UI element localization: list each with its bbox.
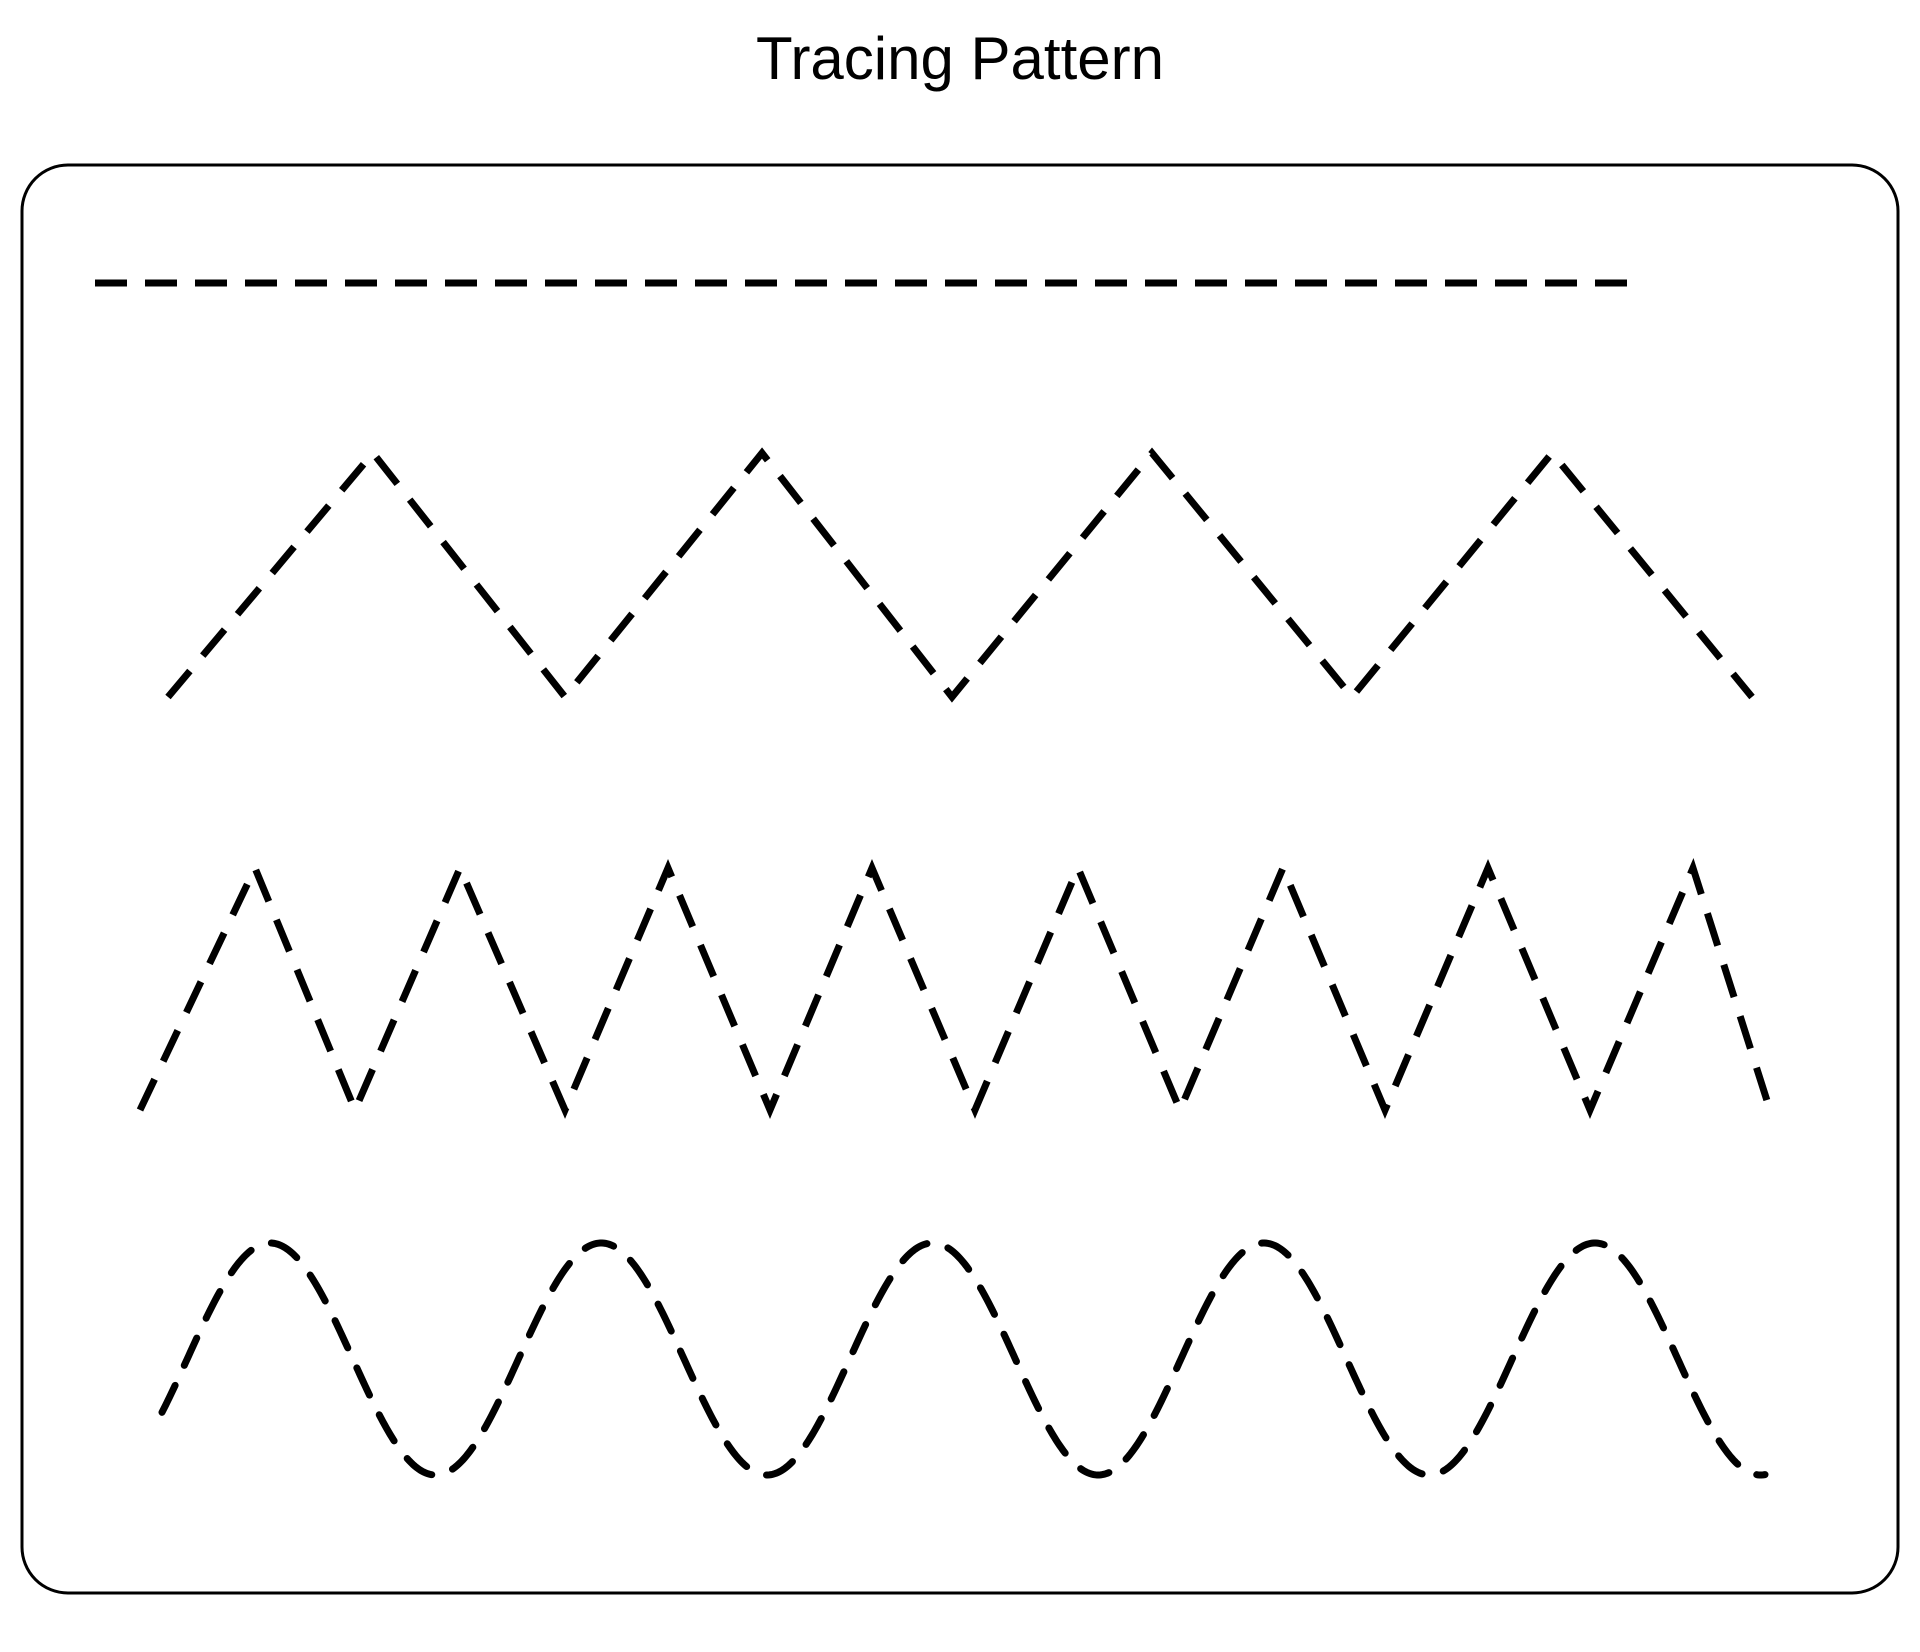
worksheet-frame xyxy=(22,165,1898,1593)
tracing-stroke-wide-zigzag xyxy=(168,453,1752,697)
tracing-stroke-sine-wave xyxy=(162,1243,1765,1475)
tracing-pattern-canvas xyxy=(0,0,1920,1652)
tracing-worksheet: Tracing Pattern xyxy=(0,0,1920,1652)
tracing-stroke-narrow-zigzag xyxy=(140,868,1770,1110)
